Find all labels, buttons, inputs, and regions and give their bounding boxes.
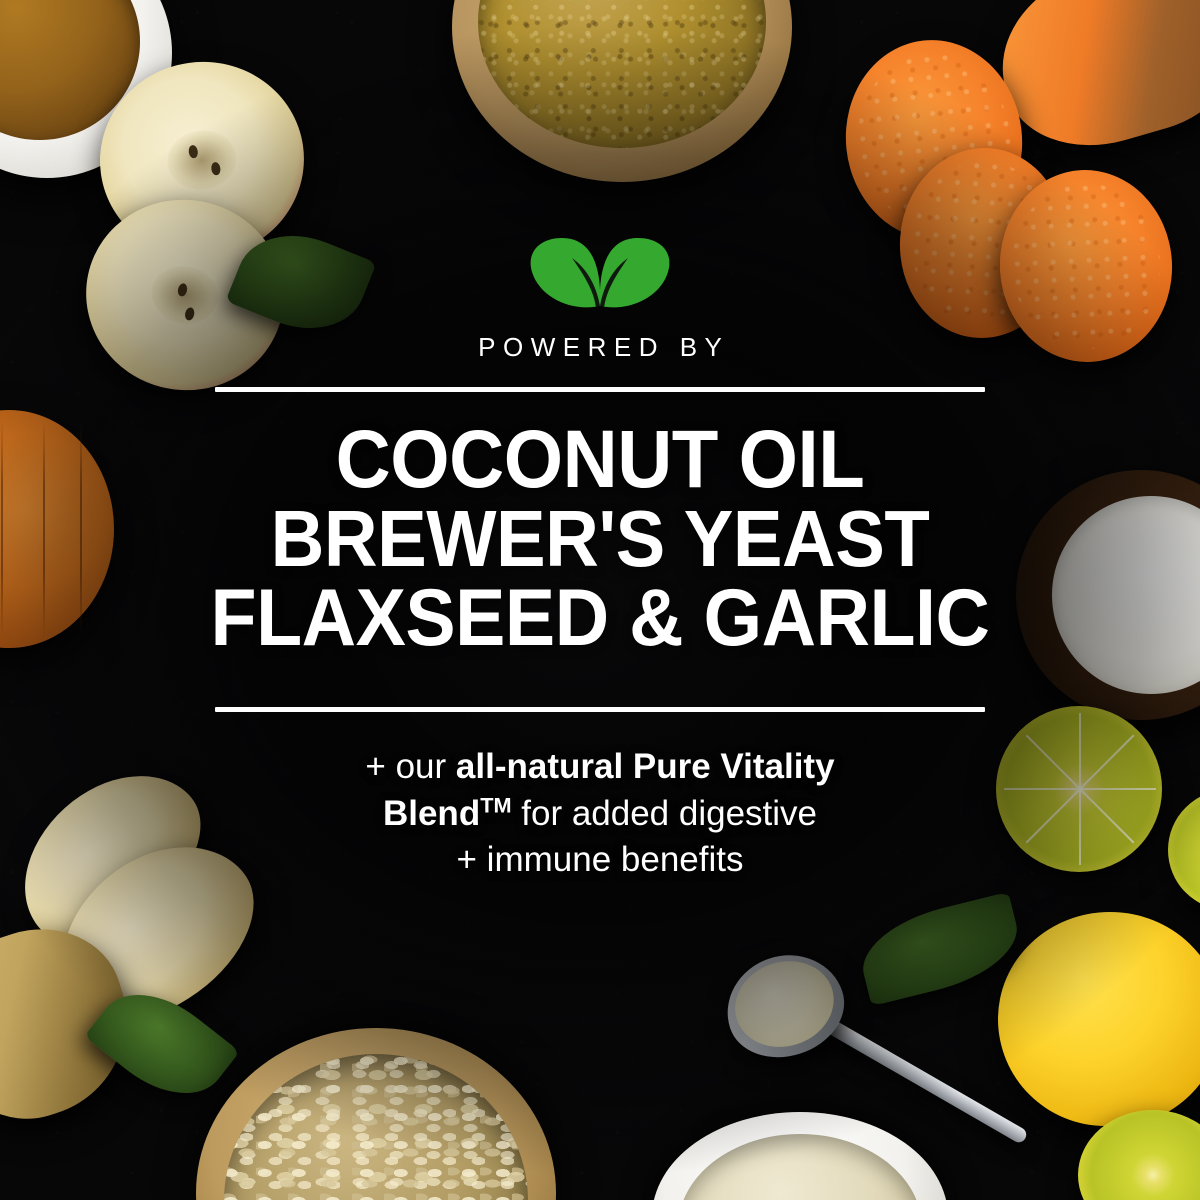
yeast-powder (478, 0, 766, 148)
subcopy-bold-1: all-natural Pure Vitality (456, 747, 835, 786)
powder-contents (678, 1134, 922, 1200)
subcopy-rest: for added digestive (512, 794, 817, 833)
promo-graphic: POWERED BY COCONUT OIL BREWER'S YEAST FL… (0, 0, 1200, 1200)
headline: COCONUT OIL BREWER'S YEAST FLAXSEED & GA… (42, 420, 1158, 658)
subcopy: + our all-natural Pure Vitality BlendTM … (0, 744, 1200, 884)
headline-line-2: BREWER'S YEAST (42, 500, 1158, 578)
eyebrow-powered-by: POWERED BY (0, 334, 1200, 360)
subcopy-bold-2: Blend (383, 794, 480, 833)
subcopy-line-2: BlendTM for added digestive (0, 791, 1200, 838)
subcopy-line-3: + immune benefits (0, 837, 1200, 884)
apple-core (164, 126, 241, 194)
oat-flake-texture (224, 1054, 528, 1200)
lemon-whole (998, 912, 1200, 1126)
yeast-grain-texture (478, 0, 766, 148)
subcopy-prefix: + our (365, 747, 455, 786)
trademark-mark: TM (480, 792, 511, 817)
headline-line-3: FLAXSEED & GARLIC (42, 579, 1158, 658)
leaf-pair-icon (510, 234, 690, 316)
promo-content: POWERED BY COCONUT OIL BREWER'S YEAST FL… (0, 234, 1200, 884)
headline-line-1: COCONUT OIL (42, 420, 1158, 500)
oats-contents (224, 1054, 528, 1200)
subcopy-line-1: + our all-natural Pure Vitality (0, 744, 1200, 791)
divider-bottom (215, 707, 985, 712)
divider-top (215, 387, 985, 392)
